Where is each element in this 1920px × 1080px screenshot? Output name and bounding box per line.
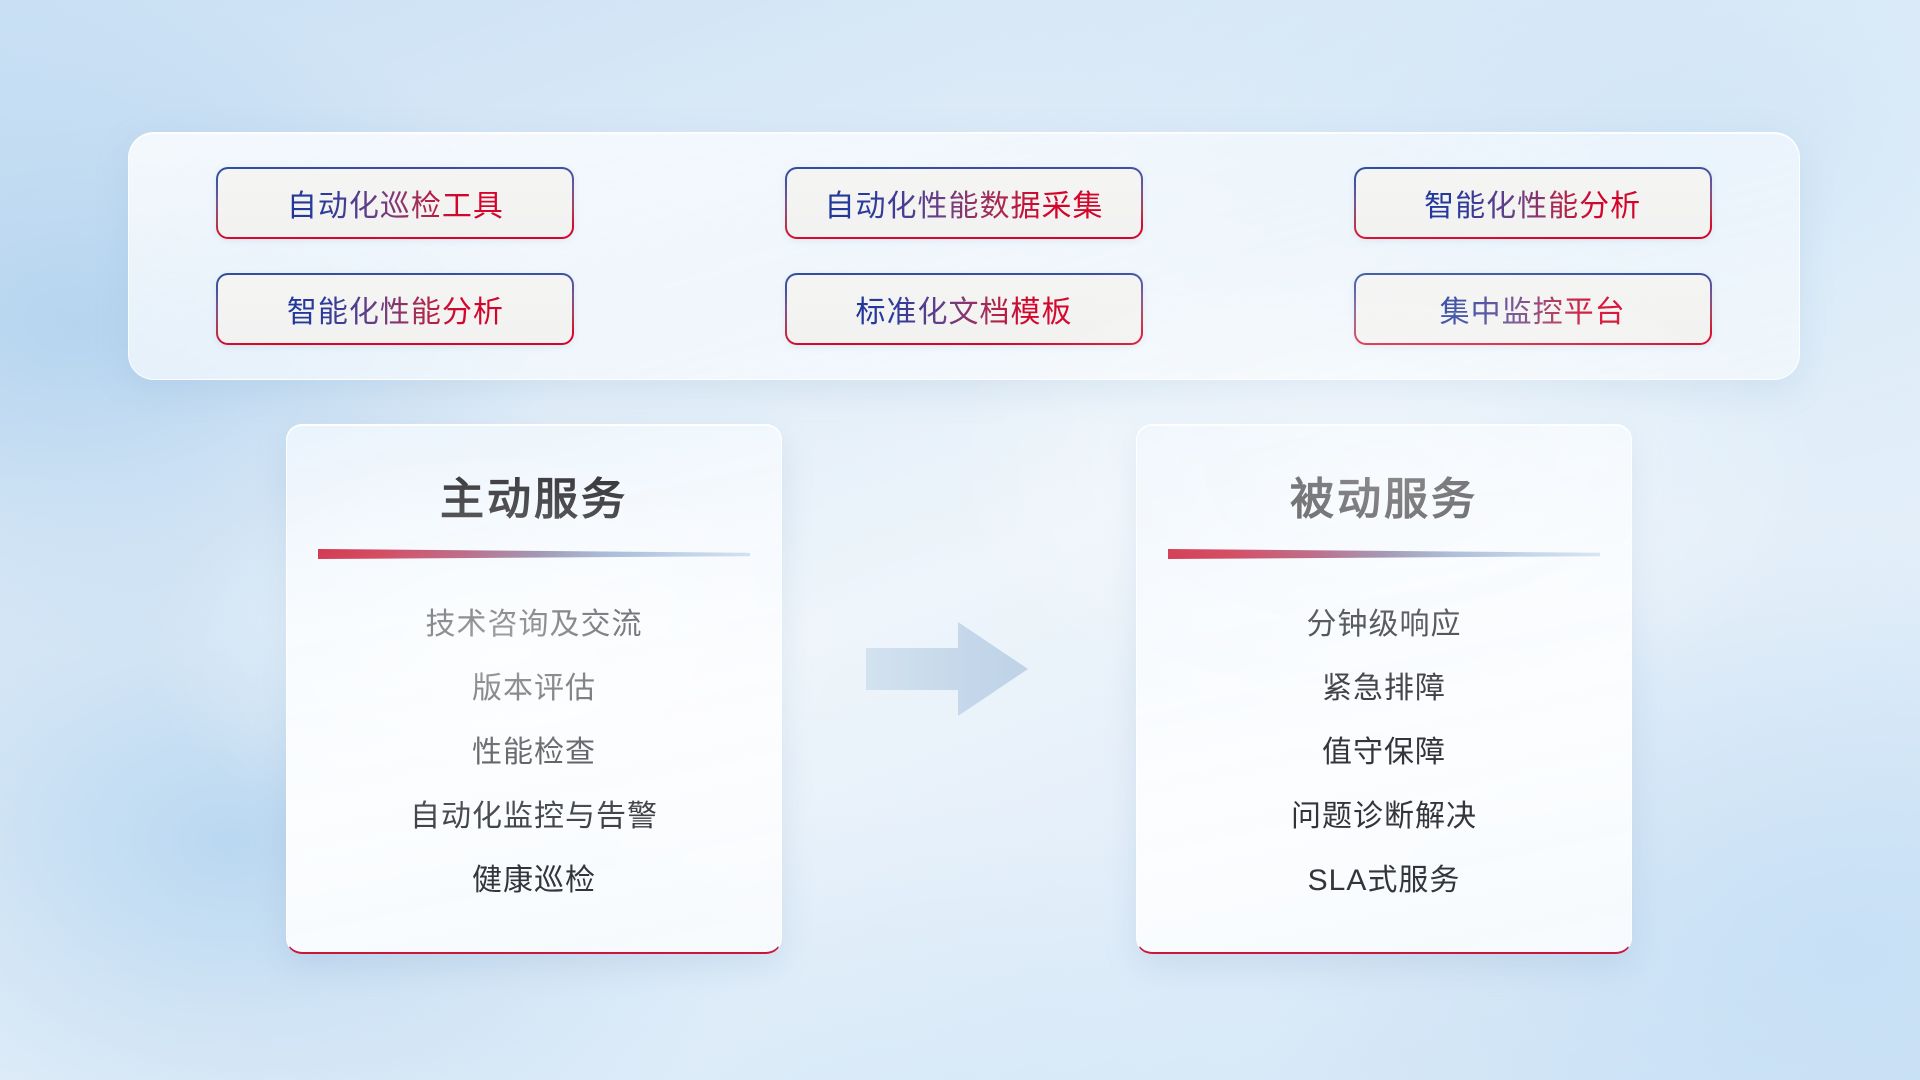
- list-item: SLA式服务: [1137, 849, 1631, 913]
- capability-tag-label: 集中监控平台: [1440, 287, 1626, 331]
- card-title: 主动服务: [287, 463, 781, 527]
- list-item: 版本评估: [287, 657, 781, 721]
- diagram-canvas: 自动化巡检工具 自动化性能数据采集 智能化性能分析 智能化性能分析 标准化文档模…: [0, 0, 1920, 1080]
- list-item: 技术咨询及交流: [287, 593, 781, 657]
- capability-tag-3[interactable]: 智能化性能分析: [1354, 167, 1712, 239]
- right-arrow-icon: [862, 614, 1032, 724]
- list-item: 自动化监控与告警: [287, 785, 781, 849]
- capability-tag-4[interactable]: 智能化性能分析: [216, 273, 574, 345]
- card-divider: [318, 549, 750, 559]
- flow-arrow: [862, 614, 1032, 724]
- card-title: 被动服务: [1137, 463, 1631, 527]
- list-item: 性能检查: [287, 721, 781, 785]
- capability-tag-5[interactable]: 标准化文档模板: [785, 273, 1143, 345]
- list-item: 问题诊断解决: [1137, 785, 1631, 849]
- list-item: 紧急排障: [1137, 657, 1631, 721]
- capability-tag-2[interactable]: 自动化性能数据采集: [785, 167, 1143, 239]
- service-item-list: 技术咨询及交流 版本评估 性能检查 自动化监控与告警 健康巡检: [287, 593, 781, 913]
- service-card-reactive: 被动服务 分钟级响应 紧急排障 值守保障 问题诊断解决 SLA式服务: [1136, 424, 1632, 954]
- service-card-proactive: 主动服务 技术咨询及交流 版本评估 性能检查 自动化监控与告警 健康巡检: [286, 424, 782, 954]
- card-divider: [1168, 549, 1600, 559]
- list-item: 分钟级响应: [1137, 593, 1631, 657]
- capability-tag-1[interactable]: 自动化巡检工具: [216, 167, 574, 239]
- capability-tag-label: 智能化性能分析: [1424, 181, 1641, 225]
- capability-tag-label: 自动化巡检工具: [287, 181, 504, 225]
- capability-tag-label: 智能化性能分析: [287, 287, 504, 331]
- capability-panel: 自动化巡检工具 自动化性能数据采集 智能化性能分析 智能化性能分析 标准化文档模…: [128, 132, 1800, 380]
- list-item: 健康巡检: [287, 849, 781, 913]
- list-item: 值守保障: [1137, 721, 1631, 785]
- capability-tag-label: 标准化文档模板: [855, 287, 1072, 331]
- capability-tag-6[interactable]: 集中监控平台: [1354, 273, 1712, 345]
- capability-tag-grid: 自动化巡检工具 自动化性能数据采集 智能化性能分析 智能化性能分析 标准化文档模…: [165, 161, 1763, 351]
- service-item-list: 分钟级响应 紧急排障 值守保障 问题诊断解决 SLA式服务: [1137, 593, 1631, 913]
- capability-tag-label: 自动化性能数据采集: [824, 181, 1103, 225]
